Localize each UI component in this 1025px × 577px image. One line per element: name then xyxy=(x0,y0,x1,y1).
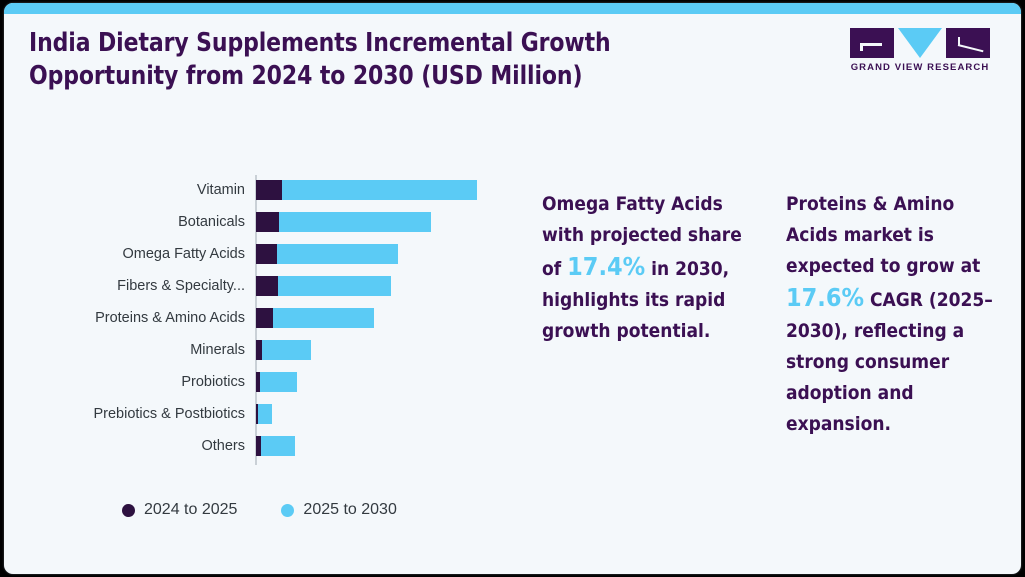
proteins-callout-line-1: Proteins & Amino xyxy=(786,193,954,215)
chart-bar-segment-2025-2030 xyxy=(258,404,272,424)
chart-bar-row: Minerals xyxy=(29,337,499,369)
proteins-callout-line-4-post: CAGR xyxy=(870,289,923,311)
logo-marks xyxy=(846,28,994,58)
chart-category-label: Botanicals xyxy=(29,213,245,232)
chart-bar-row: Others xyxy=(29,433,499,465)
proteins-callout-line-3: expected to grow xyxy=(786,255,955,277)
chart-bar-segment-2024-2025 xyxy=(256,308,273,328)
chart-bar xyxy=(256,308,374,328)
legend-item[interactable]: 2024 to 2025 xyxy=(122,501,237,519)
logo-wordmark: GRAND VIEW RESEARCH xyxy=(846,62,994,73)
logo-right-block-icon xyxy=(946,28,990,58)
chart-bar-row: Probiotics xyxy=(29,369,499,401)
chart-bar-segment-2025-2030 xyxy=(260,372,297,392)
chart-bar-segment-2024-2025 xyxy=(256,180,282,200)
omega-callout: Omega Fatty Acids with projected share o… xyxy=(542,189,747,347)
chart-category-label: Omega Fatty Acids xyxy=(29,245,245,264)
chart-bar-row: Omega Fatty Acids xyxy=(29,241,499,273)
chart-category-label: Fibers & Specialty... xyxy=(29,277,245,296)
chart-bar xyxy=(256,212,431,232)
chart-bar xyxy=(256,372,297,392)
chart-bar-segment-2025-2030 xyxy=(261,436,294,456)
chart-bar-row: Fibers & Specialty... xyxy=(29,273,499,305)
chart-bar-segment-2025-2030 xyxy=(282,180,477,200)
chart-bar-segment-2025-2030 xyxy=(262,340,311,360)
proteins-callout-line-4-pre: at xyxy=(961,255,981,277)
chart-bar xyxy=(256,340,311,360)
chart-bar-row: Vitamin xyxy=(29,177,499,209)
chart-bar-segment-2025-2030 xyxy=(273,308,373,328)
chart-category-label: Prebiotics & Postbiotics xyxy=(29,405,245,424)
legend-item-label: 2024 to 2025 xyxy=(144,501,237,519)
chart-bar xyxy=(256,404,272,424)
chart-bar-segment-2024-2025 xyxy=(256,212,279,232)
chart-bar-row: Proteins & Amino Acids xyxy=(29,305,499,337)
omega-callout-highlight: 17.4% xyxy=(567,252,645,281)
chart-bar-segment-2024-2025 xyxy=(256,276,278,296)
legend-item[interactable]: 2025 to 2030 xyxy=(281,501,396,519)
chart-bar-row: Prebiotics & Postbiotics xyxy=(29,401,499,433)
chart-bar xyxy=(256,244,398,264)
chart-bar-segment-2025-2030 xyxy=(278,276,391,296)
omega-callout-line-6: potential. xyxy=(617,320,711,342)
proteins-callout-highlight: 17.6% xyxy=(786,283,864,312)
chart-legend: 2024 to 20252025 to 2030 xyxy=(122,498,397,522)
chart-category-label: Probiotics xyxy=(29,373,245,392)
logo-left-block-icon xyxy=(850,28,894,58)
page-title-line-1: India Dietary Supplements Incremental Gr… xyxy=(29,27,687,60)
omega-callout-line-1: Omega Fatty Acids xyxy=(542,193,723,215)
legend-dot-icon xyxy=(281,504,294,517)
chart-category-label: Minerals xyxy=(29,341,245,360)
legend-dot-icon xyxy=(122,504,135,517)
page-title: India Dietary Supplements Incremental Gr… xyxy=(29,27,687,93)
infographic-card: India Dietary Supplements Incremental Gr… xyxy=(4,3,1021,574)
top-accent-bar xyxy=(4,3,1021,14)
chart-bar-segment-2024-2025 xyxy=(256,244,277,264)
omega-callout-line-2: with projected xyxy=(542,224,682,246)
proteins-callout: Proteins & Amino Acids market is expecte… xyxy=(786,189,996,440)
chart-bar xyxy=(256,436,295,456)
chart-bar-segment-2025-2030 xyxy=(277,244,399,264)
chart-category-label: Vitamin xyxy=(29,181,245,200)
logo-triangle-icon xyxy=(898,28,942,58)
chart-bar-segment-2025-2030 xyxy=(279,212,431,232)
page-title-line-2: Opportunity from 2024 to 2030 (USD Milli… xyxy=(29,60,687,93)
chart-category-label: Proteins & Amino Acids xyxy=(29,309,245,328)
chart-bar xyxy=(256,180,477,200)
chart-bar xyxy=(256,276,391,296)
chart-bar-row: Botanicals xyxy=(29,209,499,241)
incremental-growth-bar-chart: VitaminBotanicalsOmega Fatty AcidsFibers… xyxy=(29,171,499,476)
proteins-callout-line-2: Acids market is xyxy=(786,224,934,246)
chart-category-label: Others xyxy=(29,437,245,456)
grand-view-research-logo: GRAND VIEW RESEARCH xyxy=(846,28,994,76)
legend-item-label: 2025 to 2030 xyxy=(303,501,396,519)
